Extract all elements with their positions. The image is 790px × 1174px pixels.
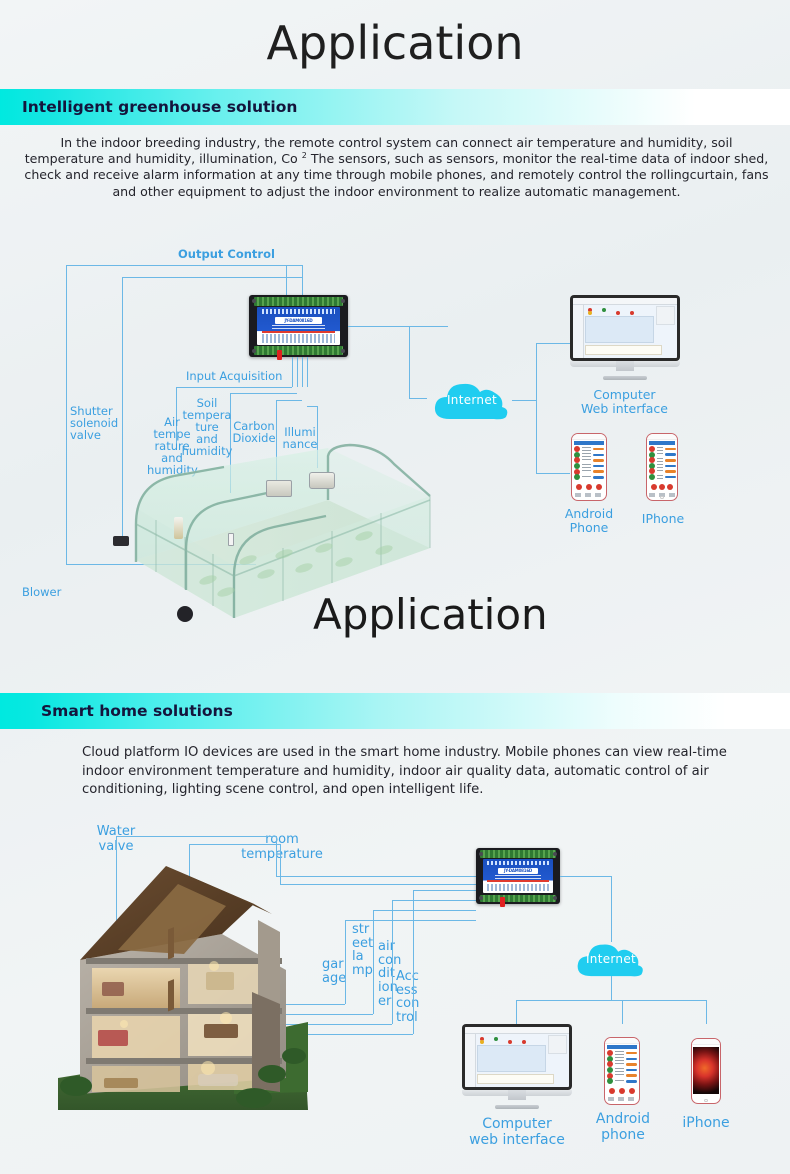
label-iphone: IPhone bbox=[632, 512, 694, 525]
label-input-acquisition: Input Acquisition bbox=[186, 370, 282, 382]
list-item bbox=[574, 447, 605, 452]
label-blower: Blower bbox=[22, 586, 61, 598]
iphone-mockup bbox=[646, 433, 678, 501]
status-dot-red-2 bbox=[616, 311, 620, 315]
line-board-to-internet bbox=[348, 326, 448, 327]
row-label bbox=[657, 453, 664, 457]
row-label bbox=[657, 447, 664, 451]
line-access-control bbox=[413, 890, 414, 1034]
screw-tr bbox=[341, 299, 345, 303]
terminal-block-bottom bbox=[480, 895, 556, 902]
action-button[interactable] bbox=[651, 484, 657, 490]
board-red-stripe bbox=[262, 331, 335, 333]
board-face: JY-DAM0816D bbox=[257, 307, 340, 345]
action-button[interactable] bbox=[596, 484, 602, 490]
phone-device-list bbox=[607, 1051, 638, 1087]
label-air-conditioner: air con dit ion er bbox=[378, 940, 398, 1008]
row-label bbox=[582, 459, 591, 463]
line-input-bus-4 bbox=[307, 406, 317, 407]
screw-bl bbox=[252, 349, 256, 353]
application-page: Application Intelligent greenhouse solut… bbox=[0, 0, 790, 1174]
line-cloud-out bbox=[512, 400, 536, 401]
row-toggle[interactable] bbox=[665, 465, 675, 467]
screw-br bbox=[553, 896, 557, 900]
house-cutaway-illustration bbox=[58, 842, 308, 1110]
row-toggle[interactable] bbox=[593, 454, 605, 456]
row-label bbox=[582, 476, 591, 480]
monitor-base bbox=[603, 376, 647, 380]
app-right-panel bbox=[656, 306, 675, 324]
row-toggle[interactable] bbox=[665, 459, 675, 461]
line-water-valve-run bbox=[116, 836, 276, 837]
cloud-label: Internet bbox=[586, 952, 636, 966]
home-button-icon[interactable] bbox=[660, 496, 664, 499]
home-button-icon[interactable] bbox=[704, 1099, 707, 1102]
line-street-lamp bbox=[373, 910, 374, 1014]
label-street-lamp: str eet la mp bbox=[352, 923, 372, 978]
line-cloud-riser bbox=[611, 876, 612, 942]
label-computer-web-interface: Computer Web interface bbox=[572, 388, 677, 416]
app-sidebar bbox=[465, 1034, 476, 1088]
line-to-computer bbox=[516, 1000, 517, 1024]
phone-app-titlebar bbox=[574, 441, 604, 446]
iphone-mockup bbox=[691, 1038, 721, 1104]
line-street-lamp-to-board bbox=[373, 910, 476, 911]
android-phone-mockup bbox=[604, 1037, 640, 1105]
phone-action-buttons[interactable] bbox=[649, 484, 674, 491]
row-label bbox=[615, 1074, 624, 1078]
device-model-label: JY-DAM0816D bbox=[275, 317, 322, 324]
line-garage bbox=[345, 920, 346, 1004]
app-main-panel bbox=[585, 316, 654, 343]
row-toggle[interactable] bbox=[665, 453, 675, 455]
internet-cloud-greenhouse: Internet bbox=[432, 379, 512, 421]
row-label bbox=[615, 1068, 624, 1072]
status-dot-green bbox=[494, 1037, 498, 1041]
io-controller-board-smarthome: JY-DAM0816D bbox=[476, 848, 560, 904]
line-cloud-down bbox=[611, 976, 612, 1000]
soil-temperature-humidity-sensor-icon bbox=[228, 533, 234, 546]
line-to-phones bbox=[536, 473, 570, 474]
illuminance-sensor-icon bbox=[309, 472, 335, 489]
row-label bbox=[657, 458, 664, 462]
cloud-label: Internet bbox=[447, 393, 497, 407]
board-pin-dots bbox=[262, 309, 335, 314]
action-button[interactable] bbox=[629, 1088, 635, 1094]
phone-statusbar bbox=[605, 1038, 639, 1044]
status-dot-red-3 bbox=[630, 311, 634, 315]
list-item bbox=[607, 1079, 638, 1084]
internet-cloud-smarthome: Internet bbox=[575, 940, 647, 978]
line-garage-to-board bbox=[345, 920, 476, 921]
action-button[interactable] bbox=[609, 1088, 615, 1094]
line-room-temp-to-board bbox=[280, 884, 476, 885]
smarthome-diagram: Water valve room temperature gar age str… bbox=[0, 818, 790, 1174]
app-toolbar bbox=[465, 1027, 569, 1034]
screw-br bbox=[341, 349, 345, 353]
board-bottom-print bbox=[262, 334, 335, 342]
action-button[interactable] bbox=[586, 484, 592, 490]
app-right-panel bbox=[548, 1035, 567, 1053]
action-button[interactable] bbox=[667, 484, 673, 490]
screw-tr bbox=[553, 852, 557, 856]
phone-statusbar bbox=[572, 434, 606, 440]
line-endpoint-bus bbox=[516, 1000, 706, 1001]
label-android-phone: Android Phone bbox=[552, 507, 626, 535]
row-label bbox=[582, 464, 591, 468]
status-dot-red-3 bbox=[522, 1040, 526, 1044]
row-toggle[interactable] bbox=[593, 476, 605, 478]
board-bottom-print bbox=[487, 884, 549, 892]
section-heading-label: Intelligent greenhouse solution bbox=[22, 98, 297, 116]
row-status-icon bbox=[574, 474, 580, 480]
row-toggle[interactable] bbox=[626, 1074, 638, 1076]
phone-app-titlebar bbox=[649, 441, 675, 446]
row-toggle[interactable] bbox=[626, 1058, 638, 1060]
android-phone-mockup bbox=[571, 433, 607, 501]
computer-monitor-smarthome bbox=[462, 1024, 572, 1109]
row-label bbox=[615, 1057, 624, 1061]
monitor-screen-content bbox=[465, 1027, 569, 1087]
terminal-block-top bbox=[480, 850, 556, 857]
phone-app-titlebar bbox=[607, 1045, 637, 1050]
line-air-conditioner bbox=[392, 900, 393, 1024]
row-label bbox=[582, 447, 591, 451]
row-toggle[interactable] bbox=[626, 1052, 638, 1054]
blower-fan-icon bbox=[177, 606, 193, 622]
line-input-bus-3 bbox=[276, 400, 302, 401]
line-to-android bbox=[622, 1000, 623, 1024]
computer-monitor-greenhouse bbox=[570, 295, 680, 380]
row-label bbox=[582, 453, 591, 457]
board-pin-dots bbox=[487, 861, 549, 865]
row-status-icon bbox=[607, 1078, 613, 1084]
status-dot-yellow bbox=[588, 311, 592, 315]
row-toggle[interactable] bbox=[665, 470, 675, 472]
label-android-phone: Android phone bbox=[584, 1111, 662, 1143]
row-label bbox=[582, 470, 591, 474]
row-label bbox=[657, 475, 664, 479]
app-main-panel bbox=[477, 1045, 546, 1072]
row-label bbox=[615, 1080, 624, 1084]
device-model-label: JY-DAM0816D bbox=[498, 868, 538, 874]
label-garage: gar age bbox=[322, 958, 346, 985]
row-toggle[interactable] bbox=[626, 1069, 638, 1071]
label-iphone: iPhone bbox=[672, 1116, 740, 1131]
board-print-lines bbox=[272, 325, 325, 330]
action-button[interactable] bbox=[576, 484, 582, 490]
line-input-b bbox=[297, 357, 298, 387]
phone-action-buttons[interactable] bbox=[608, 1088, 637, 1095]
row-label bbox=[615, 1051, 624, 1055]
app-sidebar bbox=[573, 305, 584, 359]
phone-footer-bar bbox=[608, 1097, 637, 1101]
phone-device-list bbox=[649, 447, 676, 483]
shutter-solenoid-valve-icon bbox=[113, 536, 129, 546]
greenhouse-diagram: Output Control JY-DAM0816D bbox=[0, 240, 790, 690]
line-output-bus-2 bbox=[122, 277, 302, 278]
row-label bbox=[657, 464, 664, 468]
board-red-stripe bbox=[487, 880, 549, 882]
app-status-dots bbox=[588, 308, 652, 315]
iphone-wallpaper bbox=[693, 1047, 718, 1094]
section-heading-label: Smart home solutions bbox=[41, 702, 233, 720]
row-toggle[interactable] bbox=[593, 470, 605, 472]
house-svg bbox=[58, 842, 308, 1110]
row-label bbox=[657, 470, 664, 474]
line-endpoint-bus bbox=[536, 343, 537, 473]
line-input-c bbox=[302, 357, 303, 387]
board-print-lines bbox=[495, 875, 540, 879]
row-toggle[interactable] bbox=[626, 1063, 638, 1065]
monitor-screen bbox=[462, 1024, 572, 1090]
app-log-panel bbox=[477, 1074, 554, 1084]
monitor-neck bbox=[616, 361, 634, 371]
carbon-dioxide-sensor-icon bbox=[266, 480, 292, 497]
board-face: JY-DAM0816D bbox=[483, 859, 554, 894]
greenhouse-description: In the indoor breeding industry, the rem… bbox=[24, 135, 769, 200]
power-led-indicator bbox=[277, 350, 282, 360]
screw-tl bbox=[479, 852, 483, 856]
line-output-bus-top bbox=[66, 265, 302, 266]
app-toolbar bbox=[573, 298, 677, 305]
line-access-control-to-board bbox=[413, 890, 476, 891]
phone-statusbar bbox=[692, 1039, 720, 1045]
row-toggle[interactable] bbox=[593, 448, 605, 450]
io-controller-board-greenhouse: JY-DAM0816D bbox=[249, 295, 348, 357]
row-toggle[interactable] bbox=[593, 459, 605, 461]
line-board-to-cloud bbox=[560, 876, 611, 877]
app-status-dots bbox=[480, 1037, 544, 1044]
terminal-block-bottom bbox=[254, 346, 343, 354]
page-title: Application bbox=[0, 16, 790, 70]
row-toggle[interactable] bbox=[593, 465, 605, 467]
label-computer-web-interface: Computer web interface bbox=[456, 1116, 578, 1148]
line-input-a bbox=[292, 357, 293, 387]
status-dot-green bbox=[602, 308, 606, 312]
phone-footer-bar bbox=[575, 493, 604, 497]
list-item bbox=[649, 474, 676, 479]
list-item bbox=[607, 1067, 638, 1072]
line-air-conditioner-to-board bbox=[392, 900, 476, 901]
label-access-control: Acc ess con trol bbox=[396, 970, 418, 1025]
status-dot-red-2 bbox=[508, 1040, 512, 1044]
list-item bbox=[649, 447, 676, 452]
line-to-computer bbox=[536, 343, 570, 344]
monitor-screen bbox=[570, 295, 680, 361]
screw-bl bbox=[479, 896, 483, 900]
line-input-d bbox=[307, 357, 308, 387]
list-item bbox=[574, 463, 605, 468]
status-dot-yellow bbox=[480, 1040, 484, 1044]
watermark-text: Application bbox=[313, 590, 548, 639]
row-status-icon bbox=[649, 474, 655, 480]
terminal-block-top bbox=[254, 297, 343, 305]
list-item bbox=[607, 1062, 638, 1067]
phone-statusbar bbox=[647, 434, 677, 440]
phone-action-buttons[interactable] bbox=[575, 484, 604, 491]
row-label bbox=[615, 1063, 624, 1067]
phone-device-list bbox=[574, 447, 605, 483]
row-toggle[interactable] bbox=[665, 476, 675, 478]
line-input-bus-2 bbox=[230, 393, 297, 394]
section-header-greenhouse: Intelligent greenhouse solution bbox=[0, 89, 790, 125]
line-cloud-riser bbox=[409, 326, 410, 398]
list-item bbox=[607, 1051, 638, 1056]
action-button[interactable] bbox=[659, 484, 665, 490]
row-toggle[interactable] bbox=[665, 448, 675, 450]
smarthome-description: Cloud platform IO devices are used in th… bbox=[82, 744, 742, 800]
screw-tl bbox=[252, 299, 256, 303]
label-output-control: Output Control bbox=[178, 248, 275, 260]
action-button[interactable] bbox=[619, 1088, 625, 1094]
list-item bbox=[574, 475, 605, 480]
power-led-indicator bbox=[500, 897, 505, 907]
list-item bbox=[574, 458, 605, 463]
monitor-screen-content bbox=[573, 298, 677, 358]
air-temperature-humidity-sensor-icon bbox=[174, 517, 183, 539]
monitor-neck bbox=[508, 1090, 526, 1100]
app-log-panel bbox=[585, 345, 662, 355]
line-into-cloud bbox=[409, 398, 427, 399]
line-input-bus-1 bbox=[176, 387, 292, 388]
monitor-base bbox=[495, 1105, 539, 1109]
line-to-iphone bbox=[706, 1000, 707, 1024]
section-header-smarthome: Smart home solutions bbox=[0, 693, 790, 729]
label-shutter-solenoid-valve: Shutter solenoid valve bbox=[70, 405, 118, 441]
row-toggle[interactable] bbox=[626, 1080, 638, 1082]
